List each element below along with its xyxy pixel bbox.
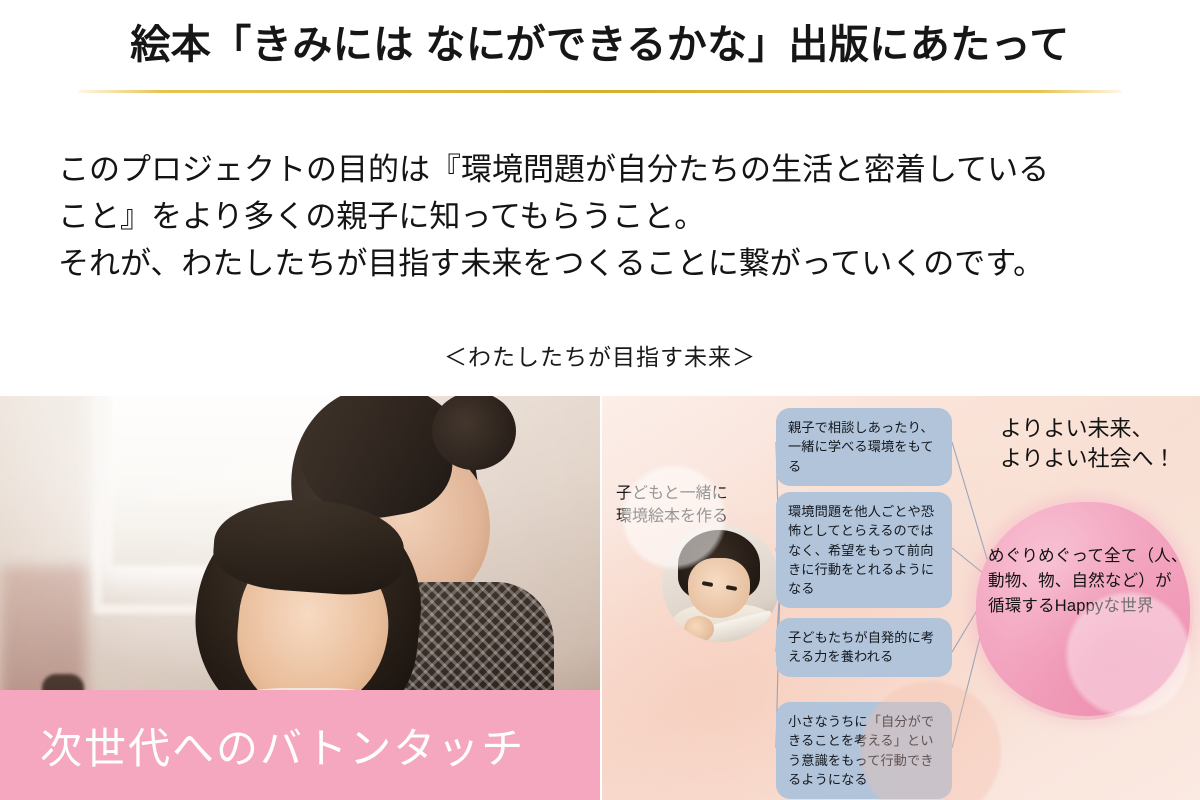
- title-text: 絵本「きみには なにができるかな」出版にあたって: [0, 22, 1200, 68]
- body-line-2: こと』をより多くの親子に知ってもらうこと。: [58, 193, 1158, 240]
- diagram-child-photo: [662, 524, 780, 642]
- slide-root: 絵本「きみには なにができるかな」出版にあたって このプロジェクトの目的は『環境…: [0, 0, 1200, 800]
- section-subtitle: ＜わたしたちが目指す未来＞: [0, 338, 1200, 372]
- diagram-goal-text: めぐりめぐって全て（人、動物、物、自然など）が循環するHappyな世界: [988, 544, 1188, 618]
- child-photo-face: [688, 558, 750, 618]
- body-line-3: それが、わたしたちが目指す未来をつくることに繋がっていくのです。: [58, 240, 1158, 287]
- diagram-node-3[interactable]: 子どもたちが自発的に考える力を養われる: [776, 618, 952, 677]
- body-line-1: このプロジェクトの目的は『環境問題が自分たちの生活と密着している: [58, 146, 1158, 193]
- title-underline-rule: [78, 90, 1122, 93]
- diagram-source-label-line-1: 子どもと一緒に: [616, 482, 766, 505]
- page-title: 絵本「きみには なにができるかな」出版にあたって: [0, 22, 1200, 68]
- body-paragraph: このプロジェクトの目的は『環境問題が自分たちの生活と密着している こと』をより多…: [58, 146, 1158, 287]
- baton-banner: 次世代へのバトンタッチ: [0, 690, 600, 800]
- diagram-node-2[interactable]: 環境問題を他人ごとや恐怖としてとらえるのではなく、希望をもって前向きに行動をとれ…: [776, 492, 952, 608]
- mother-child-photo: 次世代へのバトンタッチ: [0, 396, 600, 800]
- goal-heading-line-2: よりよい社会へ！: [1000, 444, 1200, 474]
- diagram-goal-heading: よりよい未来、 よりよい社会へ！: [1000, 414, 1200, 473]
- diagram-source-label: 子どもと一緒に 環境絵本を作る: [616, 482, 766, 528]
- child-photo-hand: [684, 616, 714, 642]
- bottom-band: 次世代へのバトンタッチ 子どもと一緒に 環境絵本を作る: [0, 396, 1200, 800]
- diagram-node-1[interactable]: 親子で相談しあったり、一緒に学べる環境をもてる: [776, 408, 952, 486]
- goal-heading-line-1: よりよい未来、: [1000, 414, 1200, 444]
- diagram-node-4[interactable]: 小さなうちに「自分ができることを考える」という意識をもって行動できるようになる: [776, 702, 952, 799]
- future-vision-diagram: 子どもと一緒に 環境絵本を作る 親子で相談しあったり、一緒に学べる環境をもてる …: [602, 396, 1200, 800]
- baton-banner-text: 次世代へのバトンタッチ: [40, 715, 525, 776]
